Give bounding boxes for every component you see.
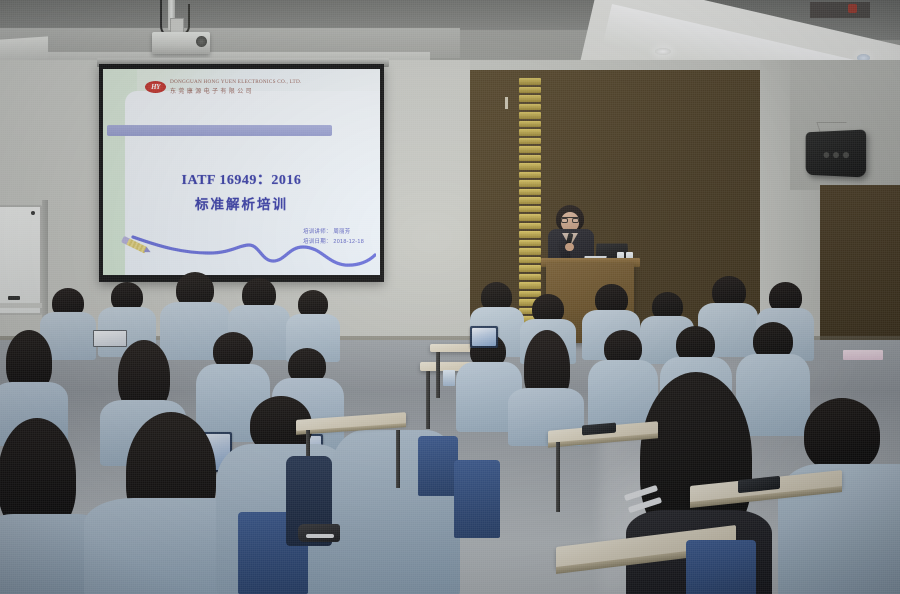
- wavy-line-graphic: [131, 223, 376, 269]
- lecture-room-photo: HY DONGGUAN HONG YUEN ELECTRONICS CO., L…: [0, 0, 900, 594]
- whiteboard-marker-icon: [8, 296, 20, 300]
- slide-accent-bar: [107, 125, 332, 136]
- audience-person: [286, 428, 338, 538]
- slat: [519, 257, 541, 264]
- slat: [519, 214, 541, 221]
- ceiling-vent-icon: [810, 2, 870, 18]
- slat: [519, 112, 541, 119]
- slat: [519, 197, 541, 204]
- slat: [519, 206, 541, 213]
- company-name-cn: 东莞康源电子有限公司: [170, 86, 302, 95]
- whiteboard: [0, 205, 42, 315]
- slat: [519, 129, 541, 136]
- slat: [519, 163, 541, 170]
- wall-brown-right-panel: [820, 185, 900, 360]
- slat: [519, 87, 541, 94]
- slide-logo: HY DONGGUAN HONG YUEN ELECTRONICS CO., L…: [145, 75, 360, 99]
- company-logo-icon: HY: [145, 81, 166, 93]
- pink-notebook: [843, 350, 883, 360]
- slat: [519, 104, 541, 111]
- wall-speaker-icon: [806, 130, 866, 178]
- audience-person: [508, 330, 584, 440]
- downlight-icon: [655, 48, 671, 55]
- projector-lens-icon: [196, 36, 207, 47]
- desk-leg: [396, 430, 400, 488]
- presentation-slide: HY DONGGUAN HONG YUEN ELECTRONICS CO., L…: [103, 69, 380, 275]
- slide-title-primary: IATF 16949：2016: [103, 169, 380, 189]
- chair: [686, 540, 756, 594]
- wall-marker: [505, 97, 508, 109]
- slat: [519, 121, 541, 128]
- desk-leg: [436, 352, 440, 398]
- slat: [519, 172, 541, 179]
- slat: [519, 155, 541, 162]
- ceiling-indicator-icon: [848, 4, 857, 13]
- whiteboard-magnet-icon: [31, 211, 35, 215]
- slat: [519, 265, 541, 272]
- chair: [418, 436, 458, 496]
- whiteboard-tray: [0, 303, 42, 308]
- slat: [519, 146, 541, 153]
- tablet-icon: [470, 326, 498, 348]
- slat: [519, 180, 541, 187]
- slat: [519, 189, 541, 196]
- slat: [519, 231, 541, 238]
- desk-leg: [556, 442, 560, 512]
- slide-title-secondary: 标准解析培训: [103, 193, 380, 213]
- presenter-hand: [565, 243, 574, 251]
- slat: [519, 78, 541, 85]
- chair: [454, 460, 500, 538]
- shoe-stripe: [306, 534, 334, 538]
- slat: [519, 138, 541, 145]
- slat: [519, 240, 541, 247]
- logo-mark-text: HY: [151, 83, 160, 91]
- shoe-icon: [298, 524, 340, 542]
- slat: [519, 274, 541, 281]
- company-name-en: DONGGUAN HONG YUEN ELECTRONICS CO., LTD.: [170, 79, 302, 85]
- projection-screen: HY DONGGUAN HONG YUEN ELECTRONICS CO., L…: [99, 64, 384, 282]
- slat: [519, 248, 541, 255]
- slat: [519, 95, 541, 102]
- ceiling-light-strip-left: [0, 36, 48, 61]
- glasses-icon: [561, 217, 579, 222]
- slat: [519, 223, 541, 230]
- person-head: [804, 398, 880, 472]
- notebook: [443, 370, 455, 386]
- desk-leg: [426, 371, 430, 429]
